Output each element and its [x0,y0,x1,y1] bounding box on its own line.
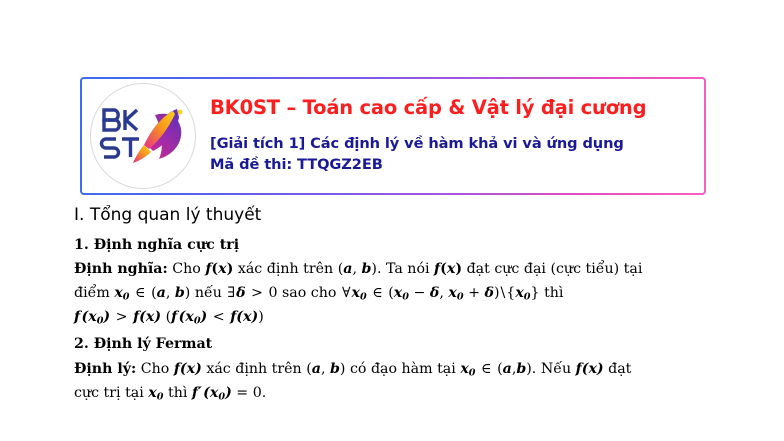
math-fx-1: f(x) [205,261,233,277]
theorem-paragraph-line2: cực trị tại x0 thì f′ (x0) = 0. [74,383,734,405]
math-interval-3: (a, b) [306,361,345,377]
subsection-heading-1: 1. Định nghĩa cực trị [74,235,734,256]
math-exists: ∃ [226,285,236,301]
math-in-1: ∈ [134,285,147,301]
banner-text-block: BK0ST – Toán cao cấp & Vật lý đại cương … [202,97,704,175]
theorem-text-d: . Nếu [532,361,571,377]
definition-line2-c: sao cho [282,285,336,301]
theorem-line2-a: cực trị tại [74,385,144,401]
math-x0-4: x0 [148,385,163,401]
math-x0-1: x0 [114,285,129,301]
math-fx-5: f(x) [576,361,604,377]
math-fx-4: f(x) [174,361,202,377]
document-body: I. Tổng quan lý thuyết 1. Định nghĩa cực… [74,203,734,408]
definition-paragraph-line2: điểm x0 ∈ (a, b) nếu ∃δ > 0 sao cho ∀x0 … [74,283,734,305]
logo-circle [90,83,196,189]
course-banner: BK0ST – Toán cao cấp & Vật lý đại cương … [80,77,706,195]
definition-text-d: đạt cực đại (cực tiểu) tại [467,261,643,277]
definition-line2-d: thì [544,285,563,301]
definition-line2-b: nếu [195,285,222,301]
math-gt-2: > [115,309,129,325]
math-fx-3: f(x) [133,309,161,325]
math-x0-3: x0 [460,361,475,377]
subsection-heading-2: 2. Định lý Fermat [74,334,734,355]
banner-subtitle-code: Mã đề thi: TTQGZ2EB [210,154,694,175]
math-fx0-gt: f (x0) [74,309,110,325]
theorem-text-e: đạt [608,361,631,377]
definition-text-b: xác định trên [238,261,333,277]
theorem-lead: Định lý: [74,361,136,377]
theorem-text-c: có đạo hàm tại [350,361,456,377]
theorem-paragraph: Định lý: Cho f(x) xác định trên (a, b) c… [74,359,734,381]
definition-paragraph: Định nghĩa: Cho f(x) xác định trên (a, b… [74,259,734,281]
math-singleton: {x0} [506,285,539,301]
math-fprime-x0: f′ (x0) [192,385,232,401]
section-heading: I. Tổng quan lý thuyết [74,203,734,229]
theorem-line2-c: = 0. [236,385,266,401]
definition-text-a: Cho [172,261,201,277]
math-interval-2: (a, b) [151,285,190,301]
math-delta-1: δ [236,285,245,301]
math-gt-1: > [250,285,264,301]
definition-paragraph-line3: f (x0) > f(x) (f (x0) < f(x)) [74,307,734,329]
logo-container [84,77,202,195]
math-interval-4: (a,b) [497,361,532,377]
definition-lead: Định nghĩa: [74,261,168,277]
math-forall: ∀ [341,285,352,301]
bkost-logo-icon [99,105,187,167]
math-interval-1: (a, b) [338,261,377,277]
math-fx-2: f(x) [434,261,462,277]
math-zero-1: 0 [268,285,277,301]
math-paren-group: (f (x0) < f(x)) [166,309,264,325]
theorem-line2-b: thì [168,385,187,401]
math-x0-2: x0 [352,285,367,301]
theorem-text-b: xác định trên [206,361,301,377]
definition-line2-a: điểm [74,285,110,301]
definition-text-c: . Ta nói [377,261,430,277]
math-in-3: ∈ [480,361,493,377]
banner-title: BK0ST – Toán cao cấp & Vật lý đại cương [210,97,694,119]
theorem-text-a: Cho [141,361,170,377]
math-neighbourhood: (x0 − δ, x0 + δ) [388,285,499,301]
banner-subtitle-exam: [Giải tích 1] Các định lý về hàm khả vi … [210,133,694,154]
math-in-2: ∈ [371,285,384,301]
